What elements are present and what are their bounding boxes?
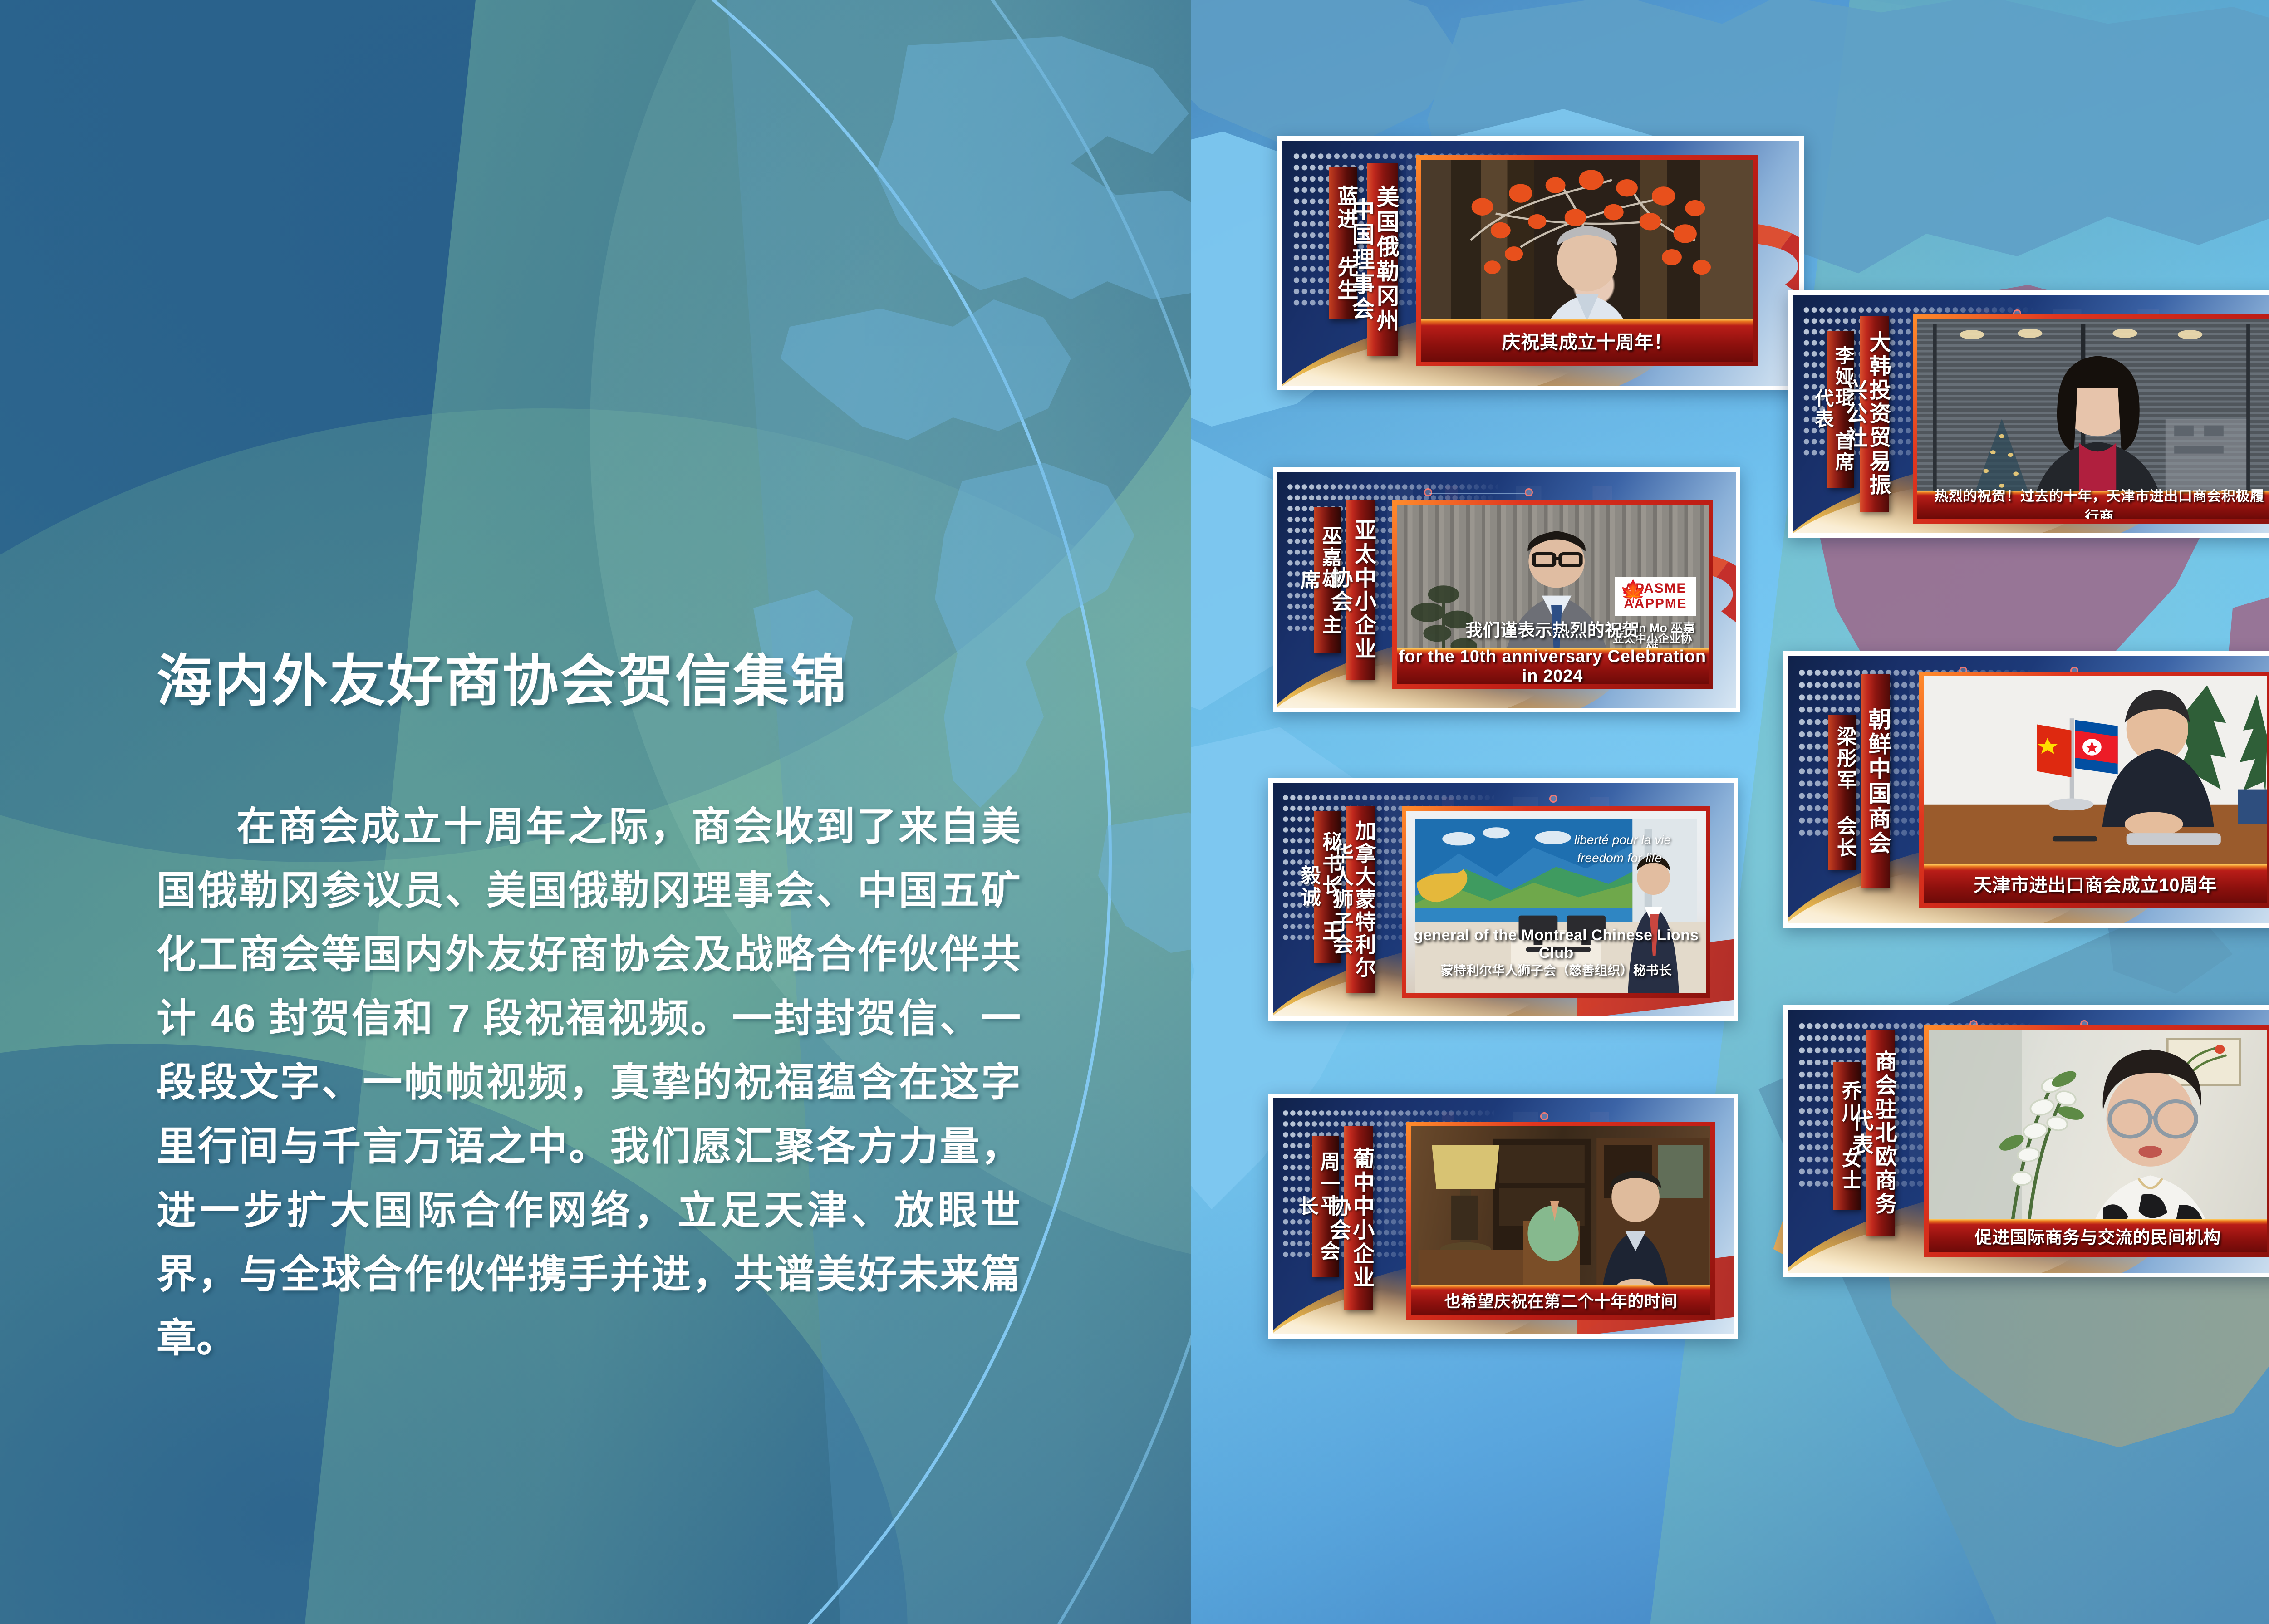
mural-text-line2: freedom for life [1577,851,1662,865]
video-card[interactable]: 周一平 会长 葡中中小企业协会 [1268,1094,1738,1339]
card-org-plate: 加拿大蒙特利尔华人狮子会 [1346,806,1375,993]
right-page: 蓝进 先生 美国俄勒冈州中国理事会 [1191,0,2269,1624]
network-node-icon [1540,1112,1548,1120]
card-caption: 天津市进出口商会成立10周年 [1924,864,2267,903]
card-video-frame[interactable]: 🍁 APASME AAPPME Kelvin Mo 巫嘉雄 亚太中小企业协会主席… [1392,500,1713,689]
card-subtitle-cn: 蒙特利尔华人狮子会（慈善组织）秘书长 [1406,961,1706,979]
card-video-frame[interactable]: 天津市进出口商会成立10周年 [1919,672,2269,907]
video-card[interactable]: 乔川 女士 商会驻北欧商务代表 [1783,1005,2269,1277]
card-org-plate: 朝鲜中国商会 [1861,674,1890,888]
brochure-spread: 海内外友好商协会贺信集锦 在商会成立十周年之际，商会收到了来自美国俄勒冈参议员、… [0,0,2269,1624]
card-caption: for the 10th anniversary Celebration in … [1397,648,1709,684]
video-card[interactable]: 秘书长 王毅诚 加拿大蒙特利尔华人狮子会 [1268,778,1738,1021]
video-card[interactable]: 巫嘉雄 主席 亚太中小企业协会 [1273,467,1740,712]
card-video-frame[interactable]: liberté pour la vie freedom for life gen… [1402,806,1710,998]
card-org-plate: 葡中中小企业协会 [1344,1126,1373,1310]
page-title: 海内外友好商协会贺信集锦 [157,651,1019,712]
card-org-plate: 亚太中小企业协会 [1346,500,1375,679]
card-video-frame[interactable]: 促进国际商务与交流的民间机构 [1924,1025,2269,1257]
card-video-frame[interactable]: 热烈的祝贺！过去的十年，天津市进出口商会积极履行商 [1913,314,2269,524]
mural-text-line1: liberté pour la vie [1574,833,1671,847]
card-video-frame[interactable]: 庆祝其成立十周年！ [1416,155,1758,366]
left-page: 海内外友好商协会贺信集锦 在商会成立十周年之际，商会收到了来自美国俄勒冈参议员、… [0,0,1191,1624]
network-link-line [1429,493,1525,494]
card-video-frame[interactable]: 也希望庆祝在第二个十年的时间 [1406,1122,1715,1320]
card-caption: 也希望庆祝在第二个十年的时间 [1411,1285,1710,1315]
card-caption: 热烈的祝贺！过去的十年，天津市进出口商会积极履行商 [1917,491,2269,519]
card-org-plate: 商会驻北欧商务代表 [1866,1030,1895,1236]
card-caption: 庆祝其成立十周年！ [1421,319,1753,361]
card-subtitle-cn: 我们谨表示热烈的祝贺 [1397,616,1709,641]
video-card[interactable]: 蓝进 先生 美国俄勒冈州中国理事会 [1277,136,1804,390]
card-caption: 促进国际商务与交流的民间机构 [1929,1219,2267,1253]
card-org-plate: 美国俄勒冈州中国理事会 [1367,163,1398,357]
video-card[interactable]: 梁彤军 会长 朝鲜中国商会 [1783,651,2269,928]
video-card[interactable]: 李娅琨 首席代表 大韩投资贸易振兴公社 [1788,290,2269,538]
maple-leaf-icon: 🍁 [1620,581,1647,603]
card-subtitle-en: general of the Montreal Chinese Lions Cl… [1406,927,1706,962]
card-org-plate: 大韩投资贸易振兴公社 [1860,316,1889,512]
network-node-icon [1549,795,1557,803]
intro-paragraph: 在商会成立十周年之际，商会收到了来自美国俄勒冈参议员、美国俄勒冈理事会、中国五矿… [157,795,1021,1370]
card-person-plate: 梁彤军 会长 [1828,715,1856,870]
apasme-logo-badge: 🍁 APASME AAPPME [1615,577,1696,616]
